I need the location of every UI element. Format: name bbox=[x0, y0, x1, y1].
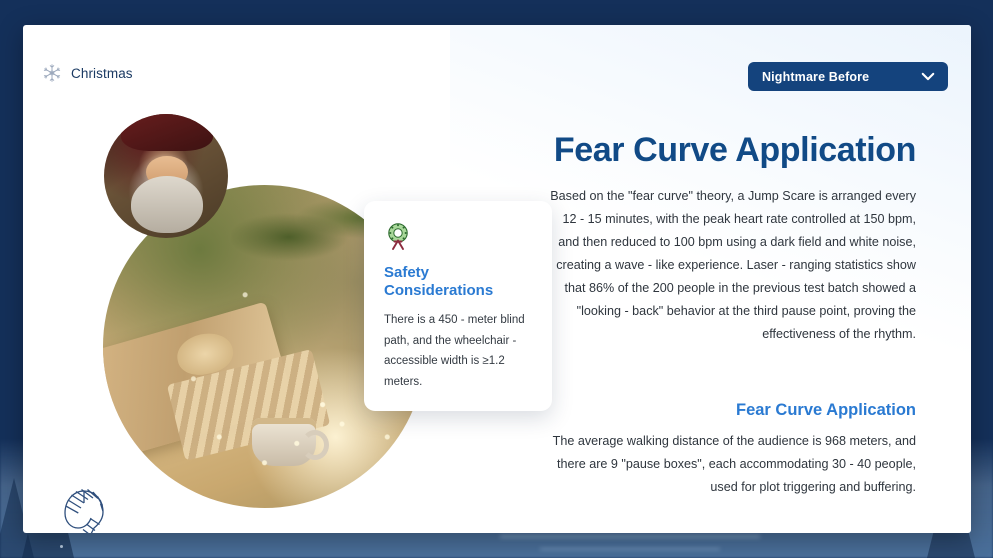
wreath-icon bbox=[384, 221, 532, 251]
safety-info-card: Safety Considerations There is a 450 - m… bbox=[364, 201, 552, 411]
safety-card-title: Safety Considerations bbox=[384, 264, 532, 299]
theme-dropdown-value: Nightmare Before bbox=[762, 70, 869, 84]
section-subtitle: Fear Curve Application bbox=[542, 401, 916, 421]
brand-label: Christmas bbox=[71, 66, 133, 81]
content-column: Fear Curve Application Based on the "fea… bbox=[542, 131, 916, 499]
page-title: Fear Curve Application bbox=[542, 131, 916, 169]
theme-dropdown[interactable]: Nightmare Before bbox=[748, 62, 948, 91]
brand: Christmas bbox=[42, 63, 133, 83]
sub-paragraph: The average walking distance of the audi… bbox=[542, 430, 916, 499]
main-paragraph: Based on the "fear curve" theory, a Jump… bbox=[542, 185, 916, 345]
safety-card-body: There is a 450 - meter blind path, and t… bbox=[384, 310, 532, 392]
photo-santa-beard bbox=[131, 176, 203, 233]
photo-santa-hat bbox=[121, 114, 213, 151]
background-light-streak bbox=[540, 548, 720, 550]
background-light-streak bbox=[500, 535, 760, 538]
slide-card: Christmas Nightmare Before bbox=[23, 25, 971, 533]
snowflake-icon bbox=[42, 63, 62, 83]
background-snow-dot bbox=[60, 545, 63, 548]
chevron-down-icon bbox=[921, 72, 935, 81]
secondary-photo bbox=[104, 114, 228, 238]
